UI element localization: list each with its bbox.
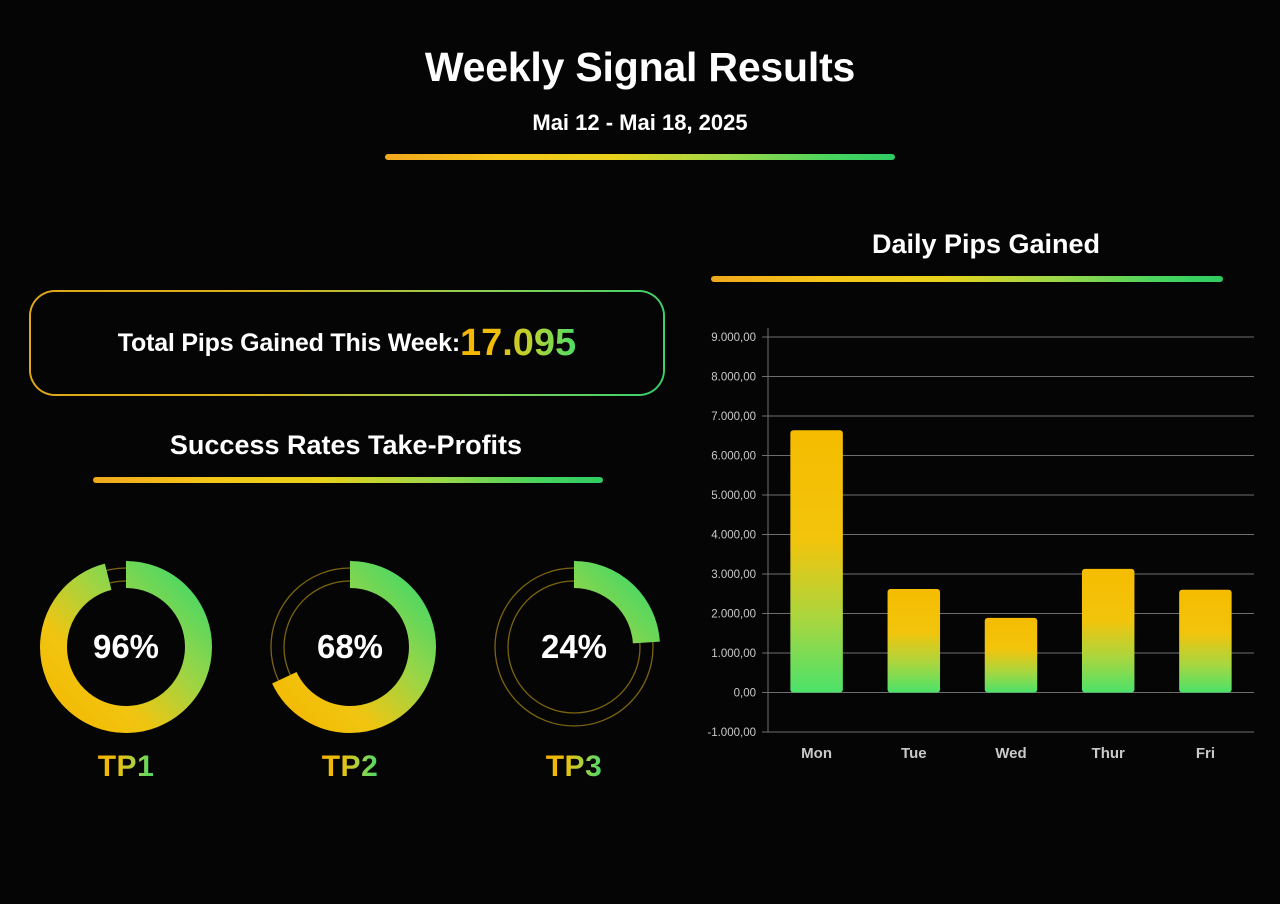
x-tick-label: Tue [901, 745, 927, 762]
donut-group: 96% TP1 [20, 552, 680, 802]
y-tick-label: 1.000,00 [711, 648, 756, 660]
dashboard-root: Weekly Signal Results Mai 12 - Mai 18, 2… [0, 0, 1280, 904]
y-tick-label: -1.000,00 [707, 727, 756, 739]
page-title: Weekly Signal Results [0, 44, 1280, 91]
bar-fri [1179, 590, 1231, 693]
chart-x-axis-labels: MonTueWedThurFri [801, 745, 1215, 762]
bar-mon [790, 430, 842, 692]
total-pips-inner: Total Pips Gained This Week: 17.095 [31, 292, 663, 394]
donut-value-tp2: 68% [255, 552, 445, 742]
chart-divider [711, 276, 1223, 282]
y-tick-label: 2.000,00 [711, 609, 756, 621]
bar-tue [888, 589, 940, 692]
x-tick-label: Mon [801, 745, 832, 762]
chart-title: Daily Pips Gained [692, 229, 1280, 260]
title-divider [385, 154, 895, 160]
success-rates-title: Success Rates Take-Profits [0, 430, 692, 461]
total-pips-value: 17.095 [460, 324, 576, 362]
daily-pips-chart: 9.000,008.000,007.000,006.000,005.000,00… [692, 306, 1272, 826]
x-tick-label: Fri [1196, 745, 1215, 762]
y-tick-label: 4.000,00 [711, 530, 756, 542]
page-subtitle: Mai 12 - Mai 18, 2025 [0, 110, 1280, 136]
y-tick-label: 7.000,00 [711, 411, 756, 423]
y-tick-label: 0,00 [734, 688, 756, 700]
chart-y-axis-labels: 9.000,008.000,007.000,006.000,005.000,00… [707, 332, 756, 739]
bar-wed [985, 618, 1037, 693]
y-tick-label: 3.000,00 [711, 569, 756, 581]
donut-tp3: 24% TP3 [468, 552, 680, 784]
x-tick-label: Thur [1092, 745, 1125, 762]
y-tick-label: 5.000,00 [711, 490, 756, 502]
donut-label-tp3: TP3 [546, 750, 603, 784]
y-tick-label: 9.000,00 [711, 332, 756, 344]
donut-label-tp2: TP2 [322, 750, 379, 784]
donut-value-tp3: 24% [479, 552, 669, 742]
donut-ring-tp3: 24% [479, 552, 669, 742]
y-tick-label: 8.000,00 [711, 372, 756, 384]
donut-tp1: 96% TP1 [20, 552, 232, 784]
donut-ring-tp2: 68% [255, 552, 445, 742]
y-tick-label: 6.000,00 [711, 451, 756, 463]
donut-ring-tp1: 96% [31, 552, 221, 742]
donut-tp2: 68% TP2 [244, 552, 456, 784]
donut-value-tp1: 96% [31, 552, 221, 742]
donut-label-tp1: TP1 [98, 750, 155, 784]
x-tick-label: Wed [995, 745, 1026, 762]
total-pips-box: Total Pips Gained This Week: 17.095 [29, 290, 665, 396]
total-pips-label: Total Pips Gained This Week: [118, 329, 460, 358]
success-rates-divider [93, 477, 603, 483]
bar-thur [1082, 569, 1134, 693]
